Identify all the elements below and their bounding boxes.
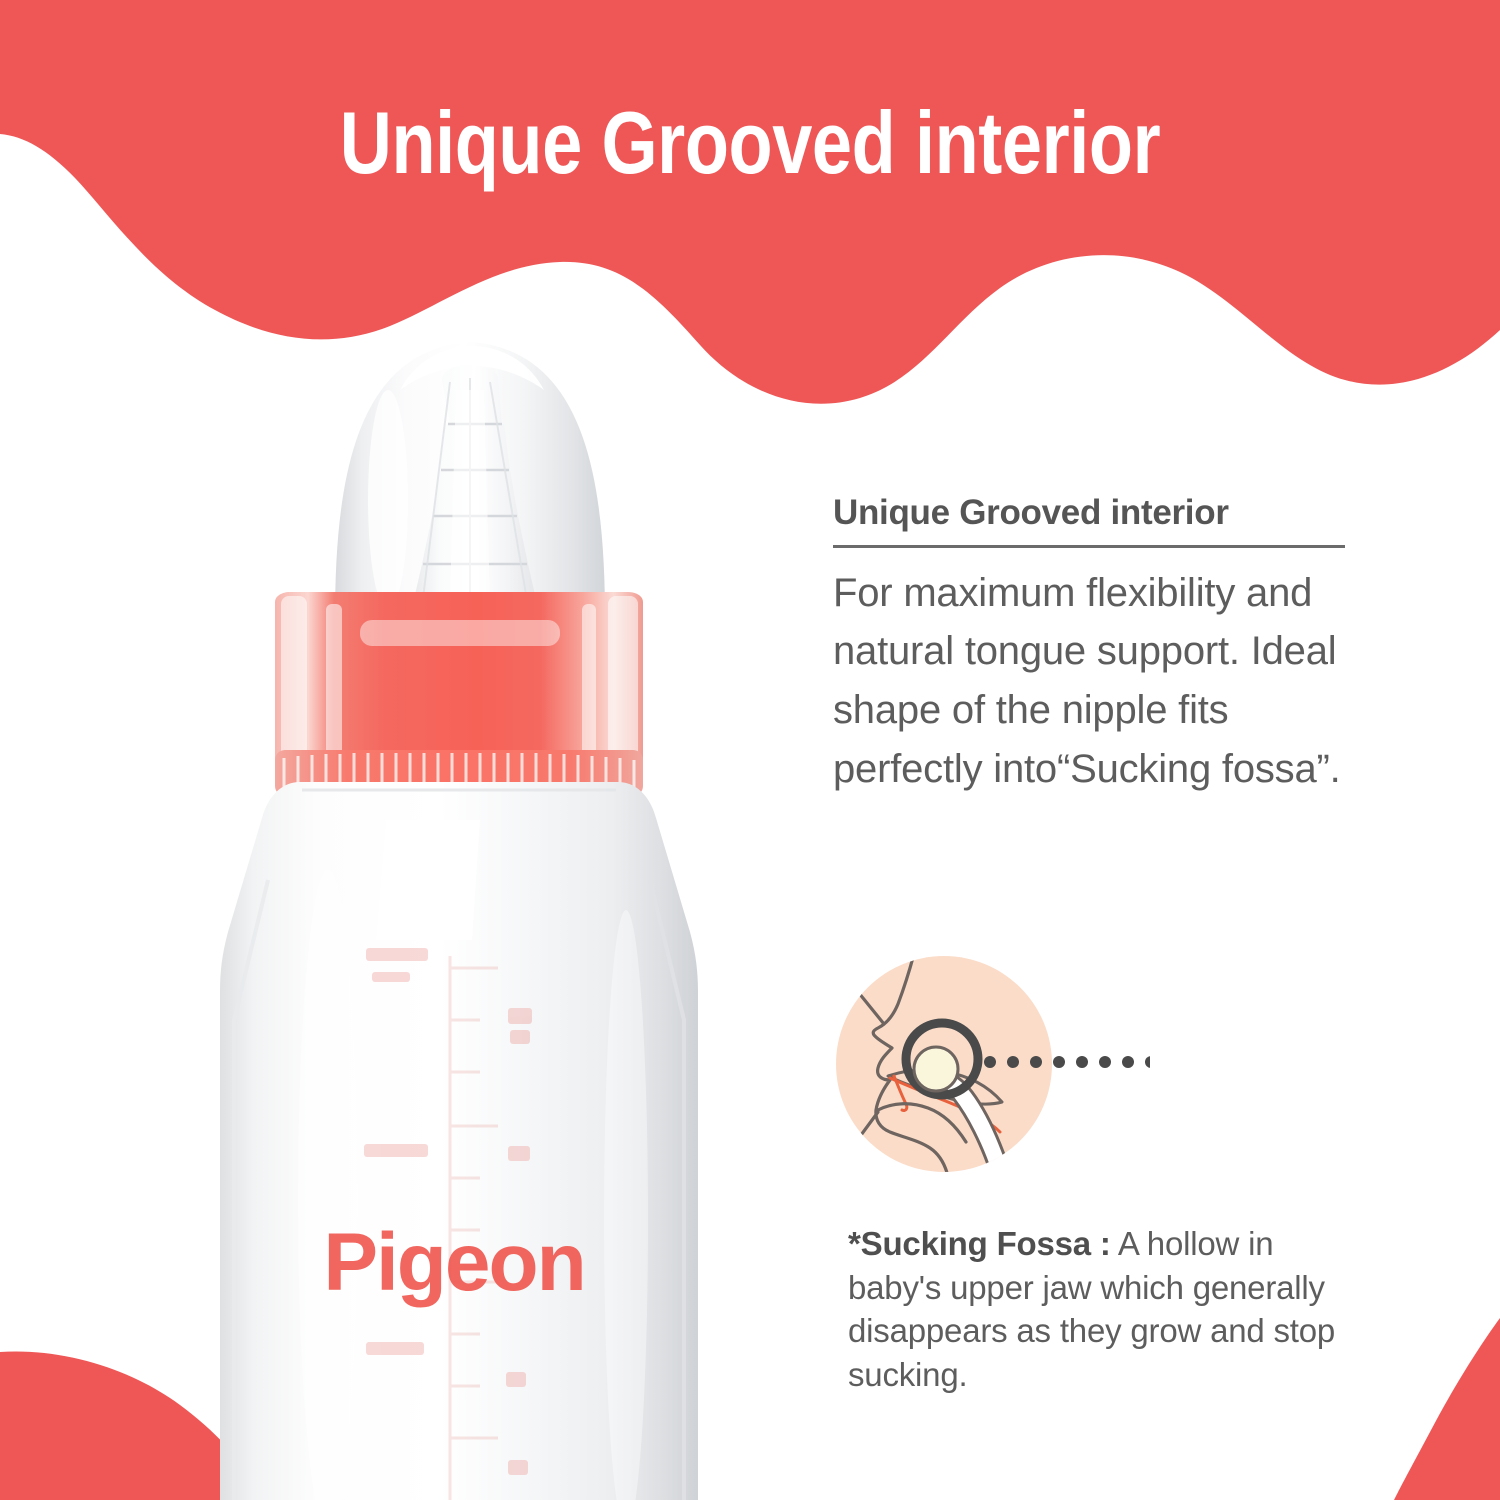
infographic-canvas: Unique Grooved interior xyxy=(0,0,1500,1500)
feature-heading: Unique Grooved interior xyxy=(833,494,1348,533)
heading-underline-rule xyxy=(833,545,1345,548)
footnote-label: *Sucking Fossa : xyxy=(848,1225,1111,1262)
sucking-fossa-footnote: *Sucking Fossa : A hollow in baby's uppe… xyxy=(848,1222,1358,1396)
svg-text:Pigeon: Pigeon xyxy=(323,1217,584,1308)
fossa-inner-circle xyxy=(914,1047,958,1091)
feature-text-block: Unique Grooved interior For maximum flex… xyxy=(833,494,1348,799)
product-bottle-image: Pigeon xyxy=(150,320,790,1500)
bottom-right-blob xyxy=(1394,1318,1500,1500)
cap-side-highlight xyxy=(368,390,408,610)
sucking-fossa-illustration xyxy=(820,952,1150,1187)
page-title: Unique Grooved interior xyxy=(135,95,1365,190)
feature-description: For maximum flexibility and natural tong… xyxy=(833,564,1348,799)
bottle-collar-ring xyxy=(275,592,643,796)
pigeon-logo: Pigeon xyxy=(323,1217,584,1308)
bottle-body: Pigeon xyxy=(220,782,698,1500)
dotted-leader-line xyxy=(984,1056,1150,1068)
